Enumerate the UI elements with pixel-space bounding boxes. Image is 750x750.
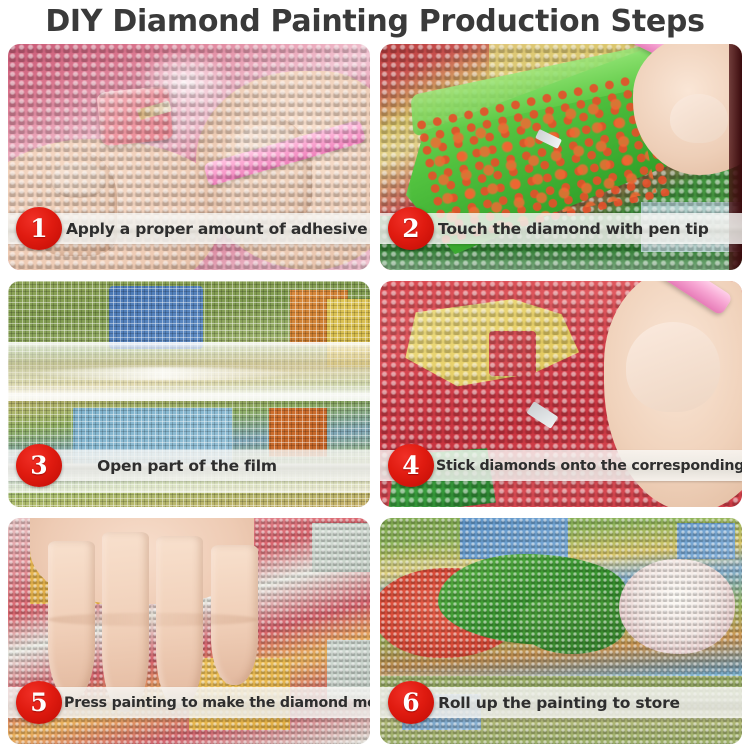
step-caption-bar-1: Apply a proper amount of adhesive [8,213,370,244]
step-caption-bar-3: Open part of the film [8,450,370,481]
step-caption-6: Roll up the painting to store [438,694,684,712]
steps-grid: 1 Apply a proper amount of adhesive [8,44,742,744]
page-title: DIY Diamond Painting Production Steps [0,0,750,42]
step-caption-5: Press painting to make the diamond more … [8,695,370,711]
step-panel-6: 6 Roll up the painting to store [380,518,742,744]
step-badge-6: 6 [388,681,434,724]
step-panel-5: 5 Press painting to make the diamond mor… [8,518,370,744]
step-caption-bar-6: Roll up the painting to store [380,687,742,718]
step-badge-4: 4 [388,444,434,487]
step-caption-bar-5: Press painting to make the diamond more … [8,687,370,718]
step-badge-2: 2 [388,207,434,250]
step-caption-bar-2: Touch the diamond with pen tip [380,213,742,244]
step-badge-5: 5 [16,681,62,724]
step-caption-bar-4: Stick diamonds onto the corresponding ca… [380,450,742,481]
step-caption-3: Open part of the film [97,457,281,475]
step-panel-4: 4 Stick diamonds onto the corresponding … [380,281,742,507]
poster-root: DIY Diamond Painting Production Steps 1 … [0,0,750,750]
step-caption-4: Stick diamonds onto the corresponding ca… [380,458,742,474]
step-badge-1: 1 [16,207,62,250]
step-panel-2: 2 Touch the diamond with pen tip [380,44,742,270]
step-panel-3: 3 Open part of the film [8,281,370,507]
step-panel-1: 1 Apply a proper amount of adhesive [8,44,370,270]
step-badge-3: 3 [16,444,62,487]
